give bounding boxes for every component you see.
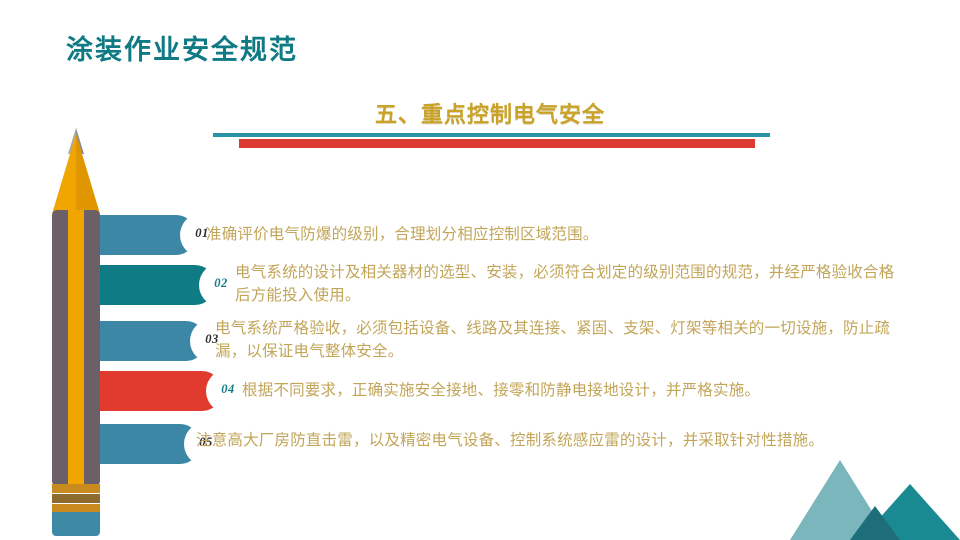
item-text: 根据不同要求，正确实施安全接地、接零和防静电接地设计，并严格实施。 <box>242 379 912 402</box>
pencil-icon <box>44 128 108 540</box>
item-band-bar <box>100 371 222 411</box>
section-heading: 五、重点控制电气安全 <box>210 97 770 129</box>
item-text: 电气系统的设计及相关器材的选型、安装，必须符合划定的级别范围的规范，并经严格验收… <box>235 261 895 307</box>
slide-canvas: 涂装作业安全规范 五、重点控制电气安全 01 <box>0 0 960 540</box>
page-title: 涂装作业安全规范 <box>66 28 298 67</box>
item-text: 注意高大厂房防直击雷，以及精密电气设备、控制系统感应雷的设计，并采取针对性措施。 <box>196 429 896 452</box>
item-text: 准确评价电气防爆的级别，合理划分相应控制区域范围。 <box>206 223 906 246</box>
mountains-icon <box>790 454 960 540</box>
item-text: 电气系统严格验收，必须包括设备、线路及其连接、紧固、支架、灯架等相关的一切设施，… <box>215 317 905 363</box>
heading-rule-red <box>239 139 755 148</box>
item-band-bar <box>100 265 215 305</box>
heading-rule-teal <box>213 133 770 137</box>
